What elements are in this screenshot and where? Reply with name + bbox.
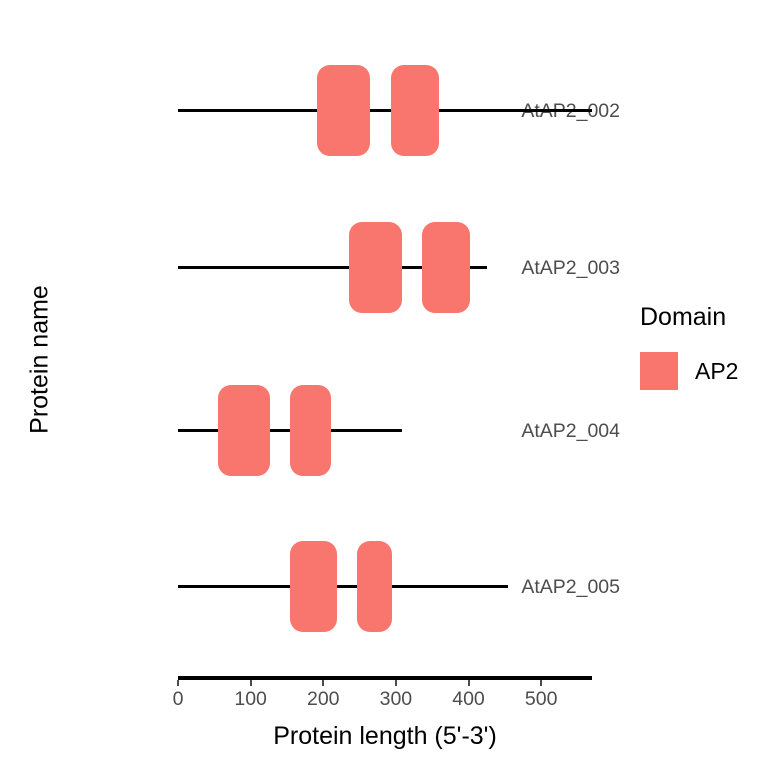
legend-item[interactable]: AP2 bbox=[640, 352, 768, 390]
protein-name-label: AtAP2_004 bbox=[440, 422, 620, 442]
x-axis-tick bbox=[177, 680, 179, 686]
domain-block[interactable] bbox=[422, 222, 470, 313]
x-axis-tick-label: 100 bbox=[234, 690, 267, 710]
domain-block[interactable] bbox=[391, 65, 440, 156]
legend-item-label: AP2 bbox=[695, 358, 738, 385]
x-axis-tick bbox=[395, 680, 397, 686]
x-axis-tick-label: 400 bbox=[452, 690, 485, 710]
domain-block[interactable] bbox=[218, 385, 270, 476]
x-axis-tick-label: 500 bbox=[525, 690, 558, 710]
legend-color-swatch bbox=[640, 352, 678, 390]
legend-title: Domain bbox=[640, 305, 768, 330]
domain-block[interactable] bbox=[357, 541, 392, 632]
protein-row: AtAP2_004 bbox=[0, 355, 620, 505]
domain-block[interactable] bbox=[317, 65, 370, 156]
protein-row: AtAP2_003 bbox=[0, 192, 620, 342]
legend-items: AP2 bbox=[640, 352, 768, 390]
x-axis-title: Protein length (5'-3') bbox=[178, 722, 592, 751]
x-axis-tick bbox=[250, 680, 252, 686]
protein-domain-chart: Protein name AtAP2_002AtAP2_003AtAP2_004… bbox=[0, 0, 768, 768]
legend: Domain AP2 bbox=[640, 305, 768, 390]
x-axis-tick-label: 300 bbox=[380, 690, 413, 710]
x-axis-tick bbox=[468, 680, 470, 686]
protein-row: AtAP2_002 bbox=[0, 35, 620, 185]
domain-block[interactable] bbox=[290, 385, 331, 476]
domain-block[interactable] bbox=[349, 222, 402, 313]
domain-block[interactable] bbox=[290, 541, 337, 632]
x-axis-tick bbox=[540, 680, 542, 686]
x-axis-tick-label: 200 bbox=[307, 690, 340, 710]
x-axis-tick bbox=[322, 680, 324, 686]
x-axis-tick-label: 0 bbox=[173, 690, 184, 710]
protein-row: AtAP2_005 bbox=[0, 511, 620, 661]
x-axis-line bbox=[178, 676, 592, 680]
protein-backbone bbox=[178, 109, 592, 112]
protein-backbone bbox=[178, 585, 508, 588]
